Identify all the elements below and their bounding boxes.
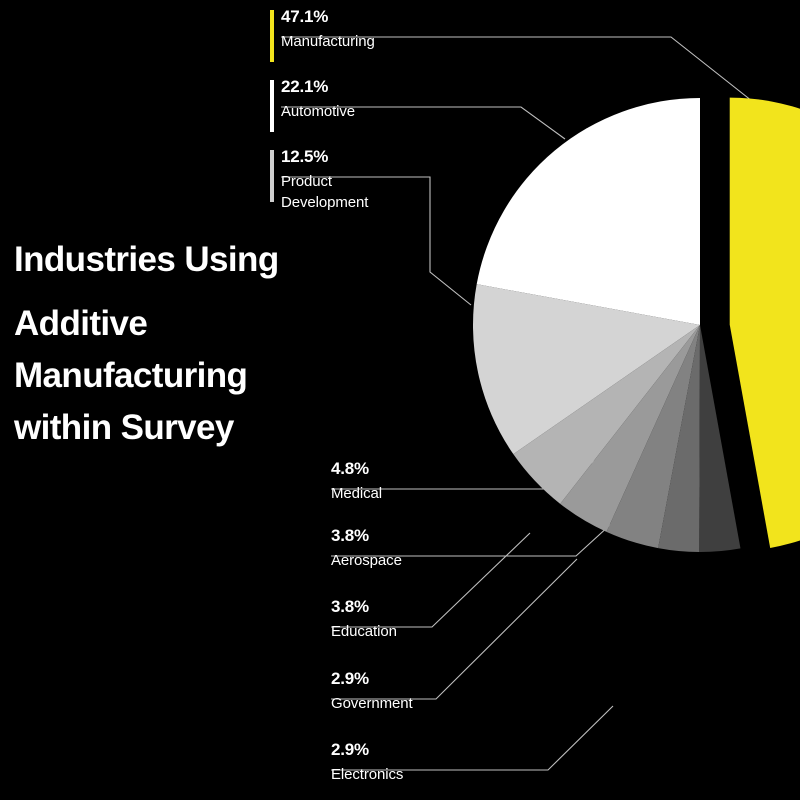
title-line-secondary: Additive Manufacturing within Survey (14, 298, 354, 454)
callout-percent: 3.8% (331, 596, 571, 618)
swatch-product-development (270, 150, 274, 202)
callout-label: Medical (331, 480, 571, 504)
callout-percent: 2.9% (331, 739, 571, 761)
callout-label: Education (331, 618, 571, 642)
pie-slice-electronics[interactable] (699, 325, 740, 552)
title-line-primary: Industries Using (14, 238, 354, 282)
callout-label: Product Development (281, 168, 521, 213)
swatch-automotive (270, 80, 274, 132)
callout-label: Aerospace (331, 547, 571, 571)
callout-percent: 22.1% (281, 76, 521, 98)
callout-electronics[interactable]: 2.9% Electronics (331, 739, 571, 785)
pie-slice-manufacturing[interactable] (730, 98, 800, 548)
callout-label: Electronics (331, 761, 571, 785)
page-title: Industries Using Additive Manufacturing … (14, 238, 354, 454)
callout-medical[interactable]: 4.8% Medical (331, 458, 571, 504)
pie-chart-infographic: Industries Using Additive Manufacturing … (0, 0, 800, 800)
callout-manufacturing[interactable]: 47.1% Manufacturing (281, 6, 521, 52)
callout-percent: 2.9% (331, 668, 571, 690)
callout-percent: 3.8% (331, 525, 571, 547)
callout-label: Manufacturing (281, 28, 521, 52)
callout-education[interactable]: 3.8% Education (331, 596, 571, 642)
callout-aerospace[interactable]: 3.8% Aerospace (331, 525, 571, 571)
callout-percent: 47.1% (281, 6, 521, 28)
callout-label: Government (331, 690, 571, 714)
swatch-manufacturing (270, 10, 274, 62)
callout-automotive[interactable]: 22.1% Automotive (281, 76, 521, 122)
callout-percent: 12.5% (281, 146, 521, 168)
callout-product-development[interactable]: 12.5% Product Development (281, 146, 521, 213)
callout-percent: 4.8% (331, 458, 571, 480)
callout-government[interactable]: 2.9% Government (331, 668, 571, 714)
callout-label: Automotive (281, 98, 521, 122)
